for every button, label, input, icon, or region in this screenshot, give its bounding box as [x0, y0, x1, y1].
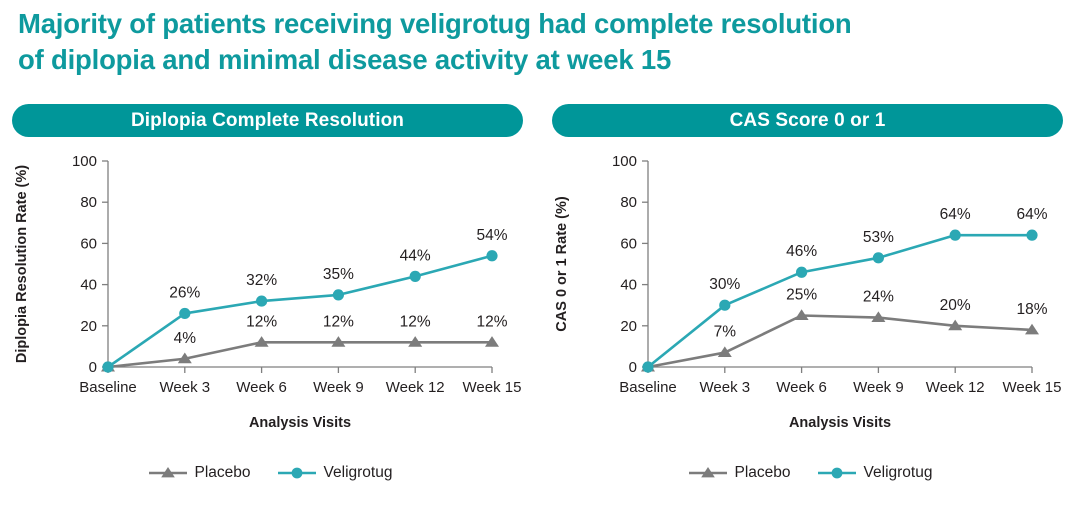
legend-label: Veligrotug: [864, 464, 933, 482]
chart-diplopia-complete-resolution: 020406080100BaselineWeek 3Week 6Week 9We…: [0, 145, 540, 475]
x-tick-label: Week 12: [386, 379, 445, 396]
x-axis-title: Analysis Visits: [789, 415, 891, 431]
series-line-placebo: [108, 342, 492, 367]
marker-placebo: [718, 346, 732, 357]
y-tick-label: 80: [80, 194, 97, 211]
data-label-placebo: 7%: [714, 324, 737, 341]
legend-item-veligrotug[interactable]: Veligrotug: [277, 464, 393, 482]
legend-item-placebo[interactable]: Placebo: [688, 464, 791, 482]
x-tick-label: Week 15: [463, 379, 522, 396]
marker-veligrotug: [410, 271, 421, 282]
data-label-veligrotug: 30%: [709, 276, 740, 293]
marker-veligrotug: [1026, 230, 1037, 241]
circle-marker: [277, 465, 317, 481]
x-tick-label: Week 6: [236, 379, 287, 396]
series-line-veligrotug: [648, 235, 1032, 367]
panel-banner-left: Diplopia Complete Resolution: [12, 104, 523, 137]
marker-veligrotug: [719, 300, 730, 311]
legend-label: Placebo: [735, 464, 791, 482]
y-axis-title: Diplopia Resolution Rate (%): [14, 165, 30, 363]
x-tick-label: Baseline: [79, 379, 137, 396]
legend-item-veligrotug[interactable]: Veligrotug: [817, 464, 933, 482]
marker-veligrotug: [796, 267, 807, 278]
x-tick-label: Baseline: [619, 379, 677, 396]
x-tick-label: Week 3: [700, 379, 751, 396]
legend-label: Veligrotug: [324, 464, 393, 482]
x-tick-label: Week 6: [776, 379, 827, 396]
x-tick-label: Week 12: [926, 379, 985, 396]
data-label-veligrotug: 26%: [169, 284, 200, 301]
marker-veligrotug: [873, 252, 884, 263]
series-line-veligrotug: [108, 256, 492, 367]
y-tick-label: 40: [620, 277, 637, 294]
data-label-placebo: 25%: [786, 287, 817, 304]
triangle-marker: [688, 465, 728, 481]
circle-marker: [817, 465, 857, 481]
chart-svg-right: 020406080100BaselineWeek 3Week 6Week 9We…: [540, 145, 1080, 475]
triangle-marker: [148, 465, 188, 481]
marker-veligrotug: [950, 230, 961, 241]
y-axis-title: CAS 0 or 1 Rate (%): [554, 196, 570, 332]
panel-diplopia-complete-resolution: Diplopia Complete Resolution 02040608010…: [0, 100, 540, 512]
chart-legend-left: PlaceboVeligrotug: [0, 464, 540, 482]
panel-banner-label-left: Diplopia Complete Resolution: [131, 110, 404, 132]
data-label-placebo: 12%: [323, 313, 354, 330]
data-label-placebo: 20%: [940, 297, 971, 314]
chart-legend-right: PlaceboVeligrotug: [540, 464, 1080, 482]
chart-cas-score-0-or-1: 020406080100BaselineWeek 3Week 6Week 9We…: [540, 145, 1080, 475]
x-tick-label: Week 9: [313, 379, 364, 396]
x-axis-title: Analysis Visits: [249, 415, 351, 431]
data-label-veligrotug: 35%: [323, 266, 354, 283]
marker-veligrotug: [333, 289, 344, 300]
y-tick-label: 40: [80, 277, 97, 294]
marker-veligrotug: [486, 250, 497, 261]
data-label-placebo: 12%: [246, 313, 277, 330]
y-tick-label: 20: [620, 318, 637, 335]
marker-veligrotug: [256, 295, 267, 306]
data-label-placebo: 18%: [1016, 301, 1047, 318]
legend-item-placebo[interactable]: Placebo: [148, 464, 251, 482]
chart-svg-left: 020406080100BaselineWeek 3Week 6Week 9We…: [0, 145, 540, 475]
series-line-placebo: [648, 316, 1032, 368]
y-tick-label: 60: [620, 235, 637, 252]
marker-veligrotug: [102, 361, 113, 372]
marker-veligrotug: [179, 308, 190, 319]
y-tick-label: 60: [80, 235, 97, 252]
data-label-veligrotug: 46%: [786, 243, 817, 260]
y-tick-label: 20: [80, 318, 97, 335]
data-label-veligrotug: 64%: [1016, 206, 1047, 223]
panel-cas-score-0-or-1: CAS Score 0 or 1 020406080100BaselineWee…: [540, 100, 1080, 512]
legend-label: Placebo: [195, 464, 251, 482]
data-label-veligrotug: 54%: [476, 227, 507, 244]
y-tick-label: 100: [612, 153, 637, 170]
x-tick-label: Week 9: [853, 379, 904, 396]
data-label-placebo: 4%: [174, 330, 197, 347]
legend-circle: [831, 468, 842, 479]
slide-root: Majority of patients receiving veligrotu…: [0, 0, 1080, 512]
legend-circle: [291, 468, 302, 479]
data-label-placebo: 12%: [476, 313, 507, 330]
page-title: Majority of patients receiving veligrotu…: [18, 6, 1063, 78]
data-label-placebo: 24%: [863, 289, 894, 306]
data-label-veligrotug: 64%: [940, 206, 971, 223]
y-tick-label: 100: [72, 153, 97, 170]
x-tick-label: Week 3: [160, 379, 211, 396]
y-tick-label: 80: [620, 194, 637, 211]
panel-banner-right: CAS Score 0 or 1: [552, 104, 1063, 137]
marker-veligrotug: [642, 361, 653, 372]
y-tick-label: 0: [89, 359, 97, 376]
panel-banner-label-right: CAS Score 0 or 1: [730, 110, 886, 132]
data-label-veligrotug: 53%: [863, 229, 894, 246]
x-tick-label: Week 15: [1003, 379, 1062, 396]
data-label-veligrotug: 32%: [246, 272, 277, 289]
y-tick-label: 0: [629, 359, 637, 376]
data-label-veligrotug: 44%: [400, 247, 431, 264]
data-label-placebo: 12%: [400, 313, 431, 330]
